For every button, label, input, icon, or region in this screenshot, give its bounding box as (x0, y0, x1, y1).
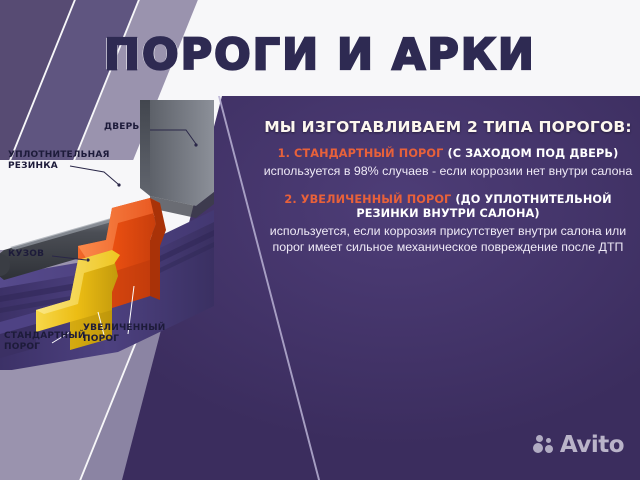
sill-type-1-qualifier: (С ЗАХОДОМ ПОД ДВЕРЬ) (447, 147, 618, 160)
avito-watermark: Avito (533, 432, 624, 458)
sill-type-2-heading: 2. УВЕЛИЧЕННЫЙ ПОРОГ (ДО УПЛОТНИТЕЛЬНОЙ … (262, 193, 634, 221)
sill-type-1-number: 1. (278, 147, 290, 160)
poster-root: ПОРОГИ И АРКИ (0, 0, 640, 480)
label-body: КУЗОВ (8, 249, 44, 260)
label-enlarged-sill: УВЕЛИЧЕННЫЙ ПОРОГ (83, 323, 166, 345)
leader-dot-door (194, 143, 197, 146)
leader-dot-body (86, 258, 89, 261)
avito-dots-icon (533, 435, 555, 455)
label-seal: УПЛОТНИТЕЛЬНАЯ РЕЗИНКА (8, 150, 110, 172)
sill-type-2-name: УВЕЛИЧЕННЫЙ ПОРОГ (301, 193, 452, 206)
sill-type-item-2: 2. УВЕЛИЧЕННЫЙ ПОРОГ (ДО УПЛОТНИТЕЛЬНОЙ … (262, 193, 634, 255)
avito-brand-text: Avito (560, 432, 624, 458)
label-standard-sill: СТАНДАРТНЫЙ ПОРОГ (4, 331, 86, 353)
info-headline: МЫ ИЗГОТАВЛИВАЕМ 2 ТИПА ПОРОГОВ: (262, 118, 634, 136)
leader-dot-seal (117, 183, 120, 186)
sill-type-2-number: 2. (284, 193, 296, 206)
page-title: ПОРОГИ И АРКИ (104, 30, 536, 80)
info-content: МЫ ИЗГОТАВЛИВАЕМ 2 ТИПА ПОРОГОВ: 1. СТАН… (262, 118, 634, 269)
sill-type-item-1: 1. СТАНДАРТНЫЙ ПОРОГ (С ЗАХОДОМ ПОД ДВЕР… (262, 147, 634, 179)
sill-type-2-description: используется, если коррозия присутствует… (262, 223, 634, 255)
sill-type-1-description: используется в 98% случаев - если корроз… (262, 163, 634, 179)
label-door: ДВЕРЬ (104, 122, 139, 133)
sill-type-1-name: СТАНДАРТНЫЙ ПОРОГ (294, 147, 443, 160)
page-title-wrapper: ПОРОГИ И АРКИ (0, 30, 640, 80)
sill-type-1-heading: 1. СТАНДАРТНЫЙ ПОРОГ (С ЗАХОДОМ ПОД ДВЕР… (262, 147, 634, 161)
